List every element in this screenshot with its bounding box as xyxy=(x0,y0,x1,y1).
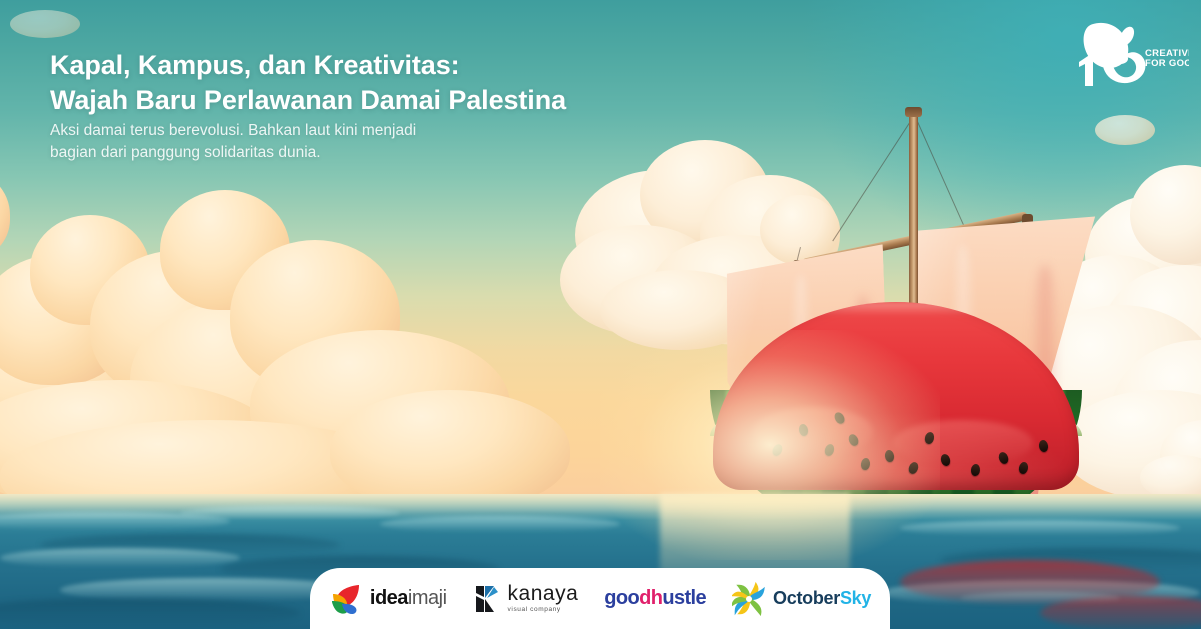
brand-tagline-line2: FOR GOOD xyxy=(1145,58,1189,69)
goodhustle-part2: dh xyxy=(639,587,662,609)
partner-logo-goodhustle[interactable]: goodhustle xyxy=(604,587,706,610)
partner-logo-bar: ideaimaji kanaya visual company goodhust… xyxy=(310,568,890,629)
headline-line-1: Kapal, Kampus, dan Kreativitas: xyxy=(50,48,670,83)
goodhustle-wordmark: goodhustle xyxy=(604,587,706,610)
octobersky-part2: Sky xyxy=(840,588,871,608)
ideaimaji-wordmark: ideaimaji xyxy=(370,587,447,610)
kanaya-wordmark: kanaya xyxy=(508,583,579,604)
creativity-for-good-logo-icon: CREATIVITY FOR GOOD xyxy=(1069,14,1189,88)
kanaya-k-icon xyxy=(473,584,501,614)
kanaya-tagline: visual company xyxy=(508,607,579,614)
octobersky-wordmark: OctoberSky xyxy=(773,588,871,609)
pinwheel-swirl-icon xyxy=(732,582,766,616)
goodhustle-part1: goo xyxy=(604,587,639,609)
partner-logo-octobersky[interactable]: OctoberSky xyxy=(732,582,871,616)
page-subtitle: Aksi damai terus berevolusi. Bahkan laut… xyxy=(50,120,570,164)
subhead-line-2: bagian dari panggung solidaritas dunia. xyxy=(50,142,570,164)
banner-image: Kapal, Kampus, dan Kreativitas: Wajah Ba… xyxy=(0,0,1201,629)
brand-logo: CREATIVITY FOR GOOD xyxy=(1069,14,1189,88)
subhead-line-1: Aksi damai terus berevolusi. Bahkan laut… xyxy=(50,120,570,142)
octobersky-part1: October xyxy=(773,588,840,608)
partner-logo-kanaya[interactable]: kanaya visual company xyxy=(473,583,579,614)
partner-logo-ideaimaji[interactable]: ideaimaji xyxy=(329,582,447,616)
goodhustle-part3: ustle xyxy=(662,587,706,609)
headline-line-2: Wajah Baru Perlawanan Damai Palestina xyxy=(50,83,670,118)
sun-glow xyxy=(600,330,940,560)
page-title: Kapal, Kampus, dan Kreativitas: Wajah Ba… xyxy=(50,48,670,117)
leaf-flame-icon xyxy=(329,582,363,616)
ideaimaji-light: imaji xyxy=(408,587,447,609)
mast-cap xyxy=(905,107,922,117)
ideaimaji-bold: idea xyxy=(370,587,408,609)
